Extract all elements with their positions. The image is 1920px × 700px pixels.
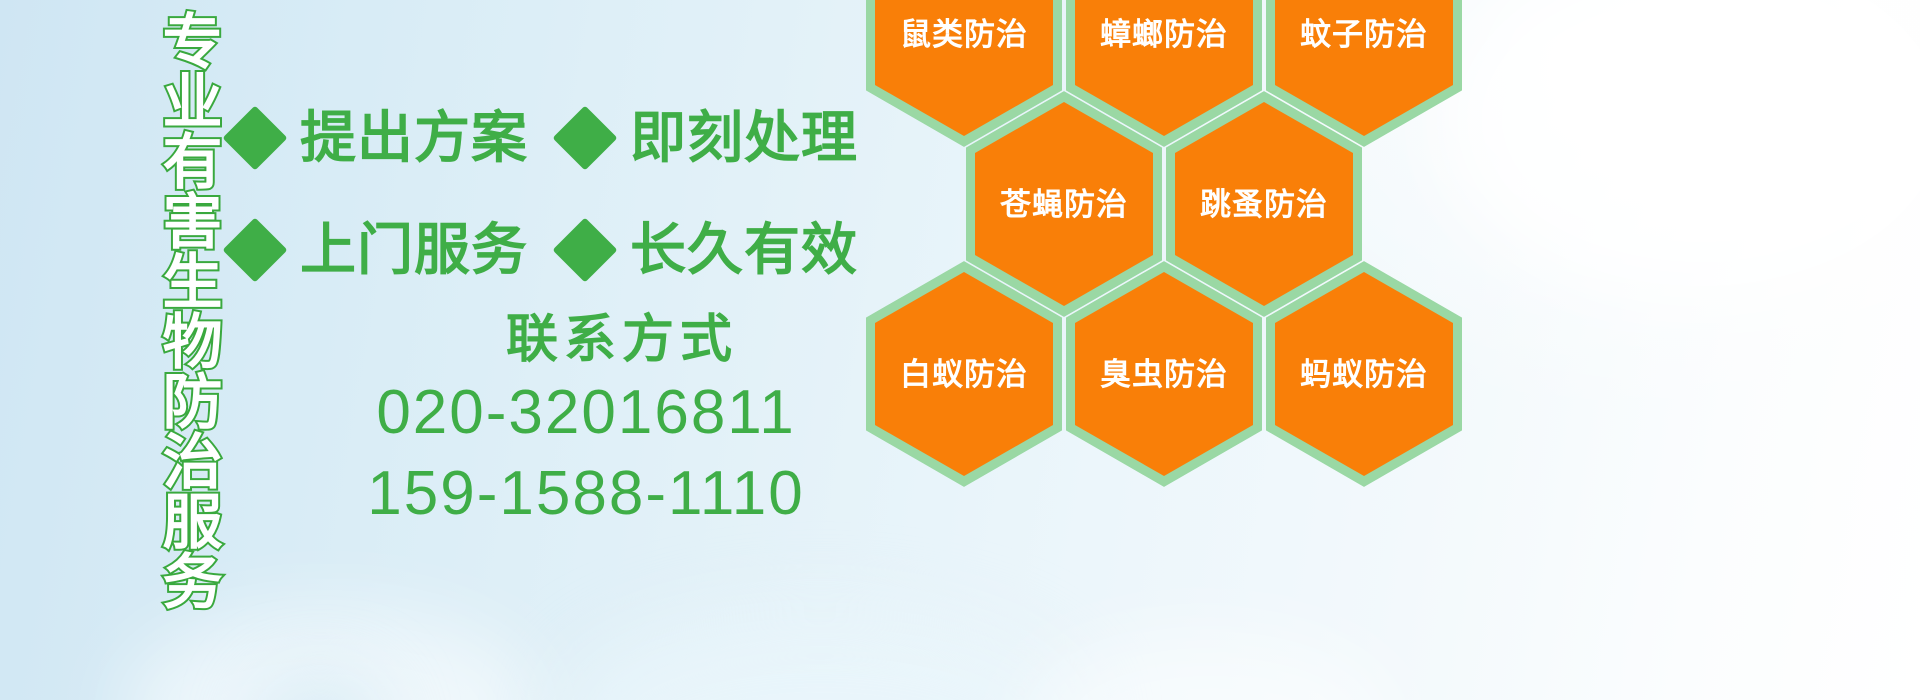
diamond-icon — [222, 217, 287, 282]
feature-label: 提出方案 — [300, 110, 528, 166]
service-label: 蚊子防治 — [1300, 19, 1428, 50]
feature-label: 长久有效 — [630, 222, 858, 278]
background-highlight — [260, 680, 380, 700]
contact-phone-landline[interactable]: 020-32016811 — [232, 373, 892, 454]
feature-item: 长久有效 — [562, 222, 858, 278]
contact-block: 联系方式 020-32016811 159-1588-1110 — [232, 308, 892, 534]
feature-item: 提出方案 — [232, 110, 528, 166]
service-hexagon-grid: 鼠类防治 蟑螂防治 蚊子防治 苍蝇防治 跳蚤防治 白蚁防治 — [860, 0, 1920, 700]
feature-label: 上门服务 — [300, 222, 528, 278]
feature-item: 上门服务 — [232, 222, 528, 278]
contact-phone-mobile[interactable]: 159-1588-1110 — [232, 454, 892, 535]
diamond-icon — [222, 105, 287, 170]
service-label: 蚂蚁防治 — [1300, 359, 1428, 390]
feature-row: 上门服务 长久有效 — [232, 194, 872, 306]
feature-item: 即刻处理 — [562, 110, 858, 166]
feature-row: 提出方案 即刻处理 — [232, 82, 872, 194]
service-label: 鼠类防治 — [900, 19, 1028, 50]
background-highlight — [120, 610, 540, 700]
vertical-headline: 专业有害生物防治服务 — [108, 10, 218, 610]
feature-label: 即刻处理 — [630, 110, 858, 166]
pest-control-banner: 专业有害生物防治服务 提出方案 即刻处理 上门服务 长久有效 联 — [0, 0, 1920, 700]
service-label: 臭虫防治 — [1100, 359, 1228, 390]
service-label: 跳蚤防治 — [1200, 189, 1328, 220]
contact-heading: 联系方式 — [232, 308, 892, 373]
diamond-icon — [552, 105, 617, 170]
feature-list: 提出方案 即刻处理 上门服务 长久有效 — [232, 82, 872, 306]
diamond-icon — [552, 217, 617, 282]
service-label: 白蚁防治 — [900, 359, 1028, 390]
service-label: 苍蝇防治 — [1000, 189, 1128, 220]
service-label: 蟑螂防治 — [1100, 19, 1228, 50]
